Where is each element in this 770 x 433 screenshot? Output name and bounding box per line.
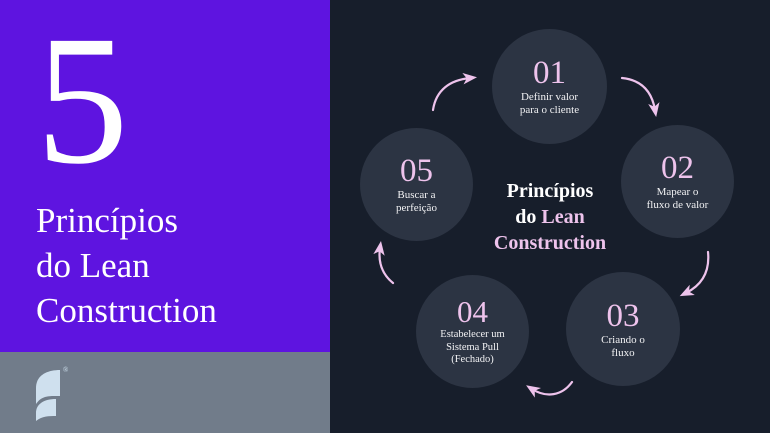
arrow-05-to-01 — [433, 78, 470, 110]
diagram-center-title-line-2: do Lean — [455, 204, 645, 230]
page-title-line-3: Construction — [36, 288, 316, 333]
cycle-node-03-label-line-1: Criando o — [601, 334, 645, 347]
cycle-node-03-label: Criando o fluxo — [601, 334, 645, 360]
cycle-node-02-label-line-2: fluxo de valor — [647, 199, 709, 212]
right-dark-panel: 01 Definir valor para o cliente 02 Mapea… — [330, 0, 770, 433]
page-title: Princípios do Lean Construction — [36, 198, 316, 333]
cycle-node-04[interactable]: 04 Estabelecer um Sistema Pull (Fechado) — [416, 275, 529, 388]
cycle-node-05-number: 05 — [400, 154, 433, 188]
arrow-04-to-05 — [380, 248, 393, 283]
cycle-node-03-label-line-2: fluxo — [601, 347, 645, 360]
big-number-5: 5 — [36, 8, 127, 193]
cycle-node-02-number: 02 — [661, 151, 694, 185]
arrow-02-to-03 — [686, 252, 708, 293]
cycle-node-05-label-line-2: perfeição — [396, 202, 437, 215]
diagram-center-title-line-1: Princípios — [455, 178, 645, 204]
cycle-node-04-label: Estabelecer um Sistema Pull (Fechado) — [440, 329, 504, 367]
cycle-node-01-label-line-1: Definir valor — [520, 91, 579, 104]
cycle-node-04-label-line-2: Sistema Pull — [440, 342, 504, 355]
arrow-03-to-04 — [532, 382, 572, 394]
cycle-node-04-number: 04 — [457, 296, 488, 328]
diagram-center-title-line-2-plain: do — [515, 206, 541, 228]
page-title-line-2: do Lean — [36, 243, 316, 288]
footer-bar: ® — [0, 352, 330, 433]
cycle-diagram: 01 Definir valor para o cliente 02 Mapea… — [330, 0, 770, 433]
cycle-node-01[interactable]: 01 Definir valor para o cliente — [492, 29, 607, 144]
left-purple-panel: 5 Princípios do Lean Construction ® — [0, 0, 330, 433]
cycle-node-02-label: Mapear o fluxo de valor — [647, 186, 709, 212]
infographic-slide: 5 Princípios do Lean Construction ® — [0, 0, 770, 433]
cycle-node-04-label-line-1: Estabelecer um — [440, 329, 504, 342]
cycle-node-03[interactable]: 03 Criando o fluxo — [566, 272, 680, 386]
cycle-node-02-label-line-1: Mapear o — [647, 186, 709, 199]
page-title-line-1: Princípios — [36, 198, 316, 243]
cycle-node-04-label-line-3: (Fechado) — [440, 354, 504, 367]
cycle-node-05-label-line-1: Buscar a — [396, 189, 437, 202]
arrow-01-to-02 — [622, 78, 655, 110]
cycle-node-01-number: 01 — [533, 56, 566, 90]
cycle-node-03-number: 03 — [607, 299, 640, 333]
cycle-node-01-label-line-2: para o cliente — [520, 104, 579, 117]
cycle-node-01-label: Definir valor para o cliente — [520, 91, 579, 117]
registered-trademark-mark: ® — [63, 367, 68, 374]
cycle-node-05-label: Buscar a perfeição — [396, 189, 437, 215]
diagram-center-title-line-2-accent: Lean — [541, 206, 584, 228]
diagram-center-title: Princípios do Lean Construction — [455, 178, 645, 256]
brand-logo-icon — [22, 366, 82, 421]
diagram-center-title-line-3: Construction — [455, 230, 645, 256]
